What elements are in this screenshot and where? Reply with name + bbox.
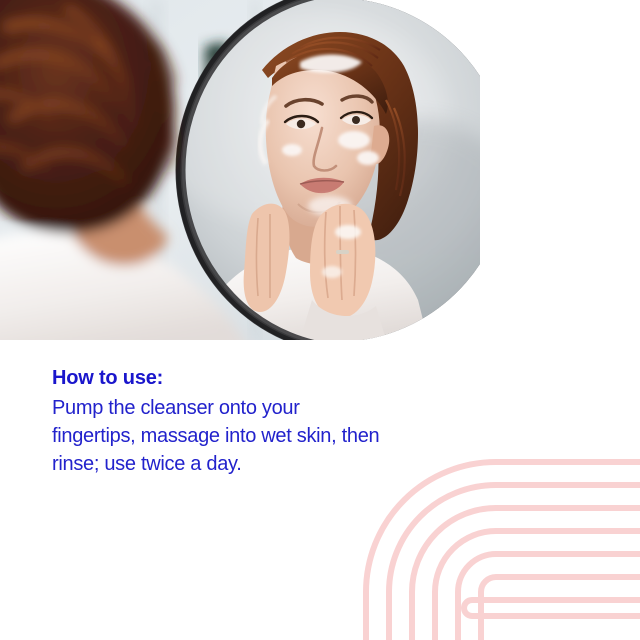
arch-line-6	[481, 577, 640, 640]
arch-line-5	[458, 554, 640, 640]
howto-body-text: Pump the cleanser onto your fingertips, …	[52, 394, 382, 478]
hero-photo-illustration	[0, 0, 480, 340]
hero-photo-clip	[0, 0, 480, 340]
hero-photo-block	[0, 0, 480, 340]
instructions-text-block: How to use: Pump the cleanser onto your …	[52, 366, 382, 478]
skincare-instruction-card: How to use: Pump the cleanser onto your …	[0, 0, 640, 640]
arch-line-3	[412, 508, 640, 640]
arch-line-7	[464, 600, 640, 616]
arch-line-2	[389, 485, 640, 640]
howto-heading: How to use:	[52, 366, 382, 390]
arch-line-1	[366, 462, 640, 640]
arch-line-4	[435, 531, 640, 640]
